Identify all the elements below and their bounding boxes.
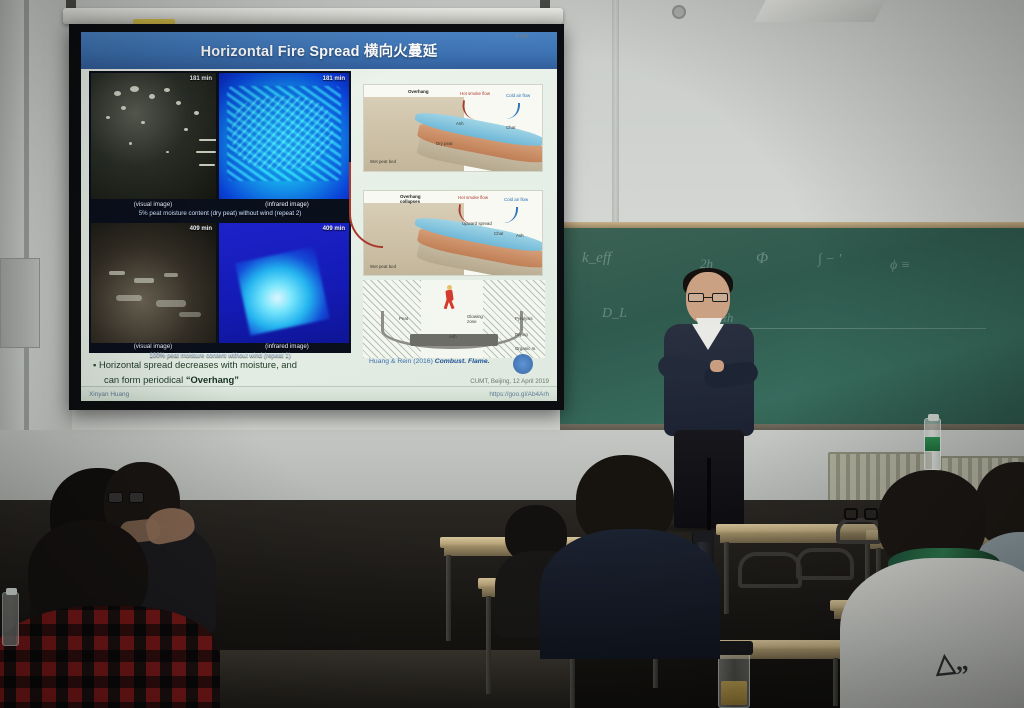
- caption-infrared-bottom: (infrared image): [239, 343, 335, 350]
- chalk-note-0: k_eff: [582, 250, 611, 267]
- label-char: Char: [494, 231, 504, 236]
- photo-visual-409min: 409 min: [91, 223, 216, 343]
- university-crest-icon: [513, 354, 533, 374]
- ceiling-light-fixture: [754, 0, 886, 22]
- stage-transition-arrow: [349, 162, 383, 248]
- slide-title-bar: Horizontal Fire Spread 横向火蔓延: [81, 32, 557, 69]
- overhang-diagram-stage1: Overhang Hot smoke flow Cold air flow As…: [363, 84, 543, 172]
- label-ash: Ash: [456, 121, 464, 126]
- audience-glasses: [108, 492, 144, 503]
- audience-member-center: [540, 455, 710, 635]
- footer-link: https://goo.gl/Ab4Arh: [489, 391, 549, 398]
- chalk-note-3: Φ: [756, 250, 768, 268]
- label-cold-air-flow: Cold air flow: [504, 197, 528, 202]
- experiment-photo-grid: 181 min 181 min 409 min: [89, 71, 351, 353]
- caption-visual-top: (visual image): [105, 201, 201, 208]
- chair-back-right: [738, 552, 802, 588]
- label-peat: Peat: [399, 316, 408, 321]
- citation-journal: Combust. Flame.: [435, 358, 490, 365]
- label-wet-peat-bed: Wet peat bed: [370, 264, 396, 269]
- label-ash: Ash: [449, 334, 457, 339]
- presenter-hand: [710, 360, 724, 372]
- photo-timestamp: 409 min: [323, 226, 345, 232]
- jar-lid: [717, 641, 753, 655]
- bullet-line-2-bold: “Overhang”: [186, 374, 239, 385]
- label-drying: Drying: [515, 332, 528, 337]
- presenter-glasses: [688, 293, 728, 302]
- label-organic-matter: Organic m.: [515, 346, 536, 351]
- cold-air-arrow: [504, 103, 520, 119]
- torso: [540, 529, 720, 659]
- audience-member-plaid-shirt: [0, 520, 220, 708]
- left-wall-recess: [0, 258, 40, 348]
- citation-authors: Huang & Rein (2016): [369, 358, 435, 365]
- label-cold-air-flow: Cold air flow: [506, 93, 530, 98]
- projection-screen-roller: [63, 8, 563, 24]
- label-overhang-collapses: Overhang collapses: [400, 194, 440, 204]
- meeting-info: CUMT, Beijing, 12 April 2019: [470, 378, 549, 385]
- jar-contents: [721, 681, 747, 705]
- bottle-cap: [6, 588, 17, 595]
- photo-infrared-181min: 181 min: [219, 73, 349, 199]
- label-hot-smoke-flow: Hot smoke flow: [460, 91, 490, 96]
- label-char: Char: [506, 125, 516, 130]
- bullet-line-1: Horizontal spread decreases with moistur…: [99, 359, 297, 370]
- water-bottle-on-radiator: [924, 418, 941, 470]
- bottle-cap: [928, 414, 939, 421]
- photo-timestamp: 181 min: [323, 76, 345, 82]
- screen-brand-label: FINE: [516, 34, 529, 40]
- slide-footer: Xinyan Huang https://goo.gl/Ab4Arh: [81, 386, 557, 401]
- slide-title-text: Horizontal Fire Spread 横向火蔓延: [201, 40, 438, 61]
- presentation-slide: Horizontal Fire Spread 横向火蔓延: [81, 32, 557, 401]
- caption-moisture-top: 5% peat moisture content (dry peat) with…: [89, 210, 351, 217]
- photo-timestamp: 181 min: [190, 76, 212, 82]
- label-overhang: Overhang: [408, 89, 429, 94]
- left-wall-edge: [24, 0, 29, 470]
- left-wall-panel: [0, 0, 72, 470]
- glass-tea-jar: [718, 645, 750, 708]
- running-figure-icon: [443, 283, 457, 309]
- cold-air-arrow: [502, 207, 518, 223]
- chalkboard: k_eff D_L 2h Φ = αh ∫ − ′ ϕ ≡: [560, 228, 1024, 430]
- caption-infrared-top: (infrared image): [239, 201, 335, 208]
- overhang-diagram-stage2: Overhang collapses Hot smoke flow Cold a…: [363, 190, 543, 276]
- hoodie-graphic-print: △„: [934, 643, 1007, 698]
- audience-member-hoodie: △„: [840, 470, 1024, 708]
- caption-visual-bottom: (visual image): [105, 343, 201, 350]
- classroom-photo-scene: k_eff D_L 2h Φ = αh ∫ − ′ ϕ ≡ Horizontal…: [0, 0, 1024, 708]
- projection-screen: Horizontal Fire Spread 横向火蔓延: [69, 24, 564, 410]
- peat-fire-schematic: Peat Ash Glowing zone Pyrolysis Drying O…: [363, 280, 545, 358]
- slide-bullet-list: ▪ Horizontal spread decreases with moist…: [93, 357, 351, 387]
- bullet-line-2-prefix: can form periodical: [104, 374, 186, 385]
- footer-author: Xinyan Huang: [89, 391, 129, 398]
- wall-mount-knob: [672, 5, 686, 19]
- slide-citation: Huang & Rein (2016) Combust. Flame.: [369, 358, 490, 365]
- infrared-hot-plume: [236, 247, 330, 337]
- label-hot-smoke-flow: Hot smoke flow: [458, 195, 488, 200]
- bottle-label: [925, 437, 940, 451]
- chalk-note-1: D_L: [602, 306, 627, 322]
- label-pyrolysis: Pyrolysis: [515, 316, 533, 321]
- hoodie-student-glasses: [844, 508, 878, 520]
- small-water-bottle: [2, 592, 19, 646]
- label-ash: Ash: [516, 233, 524, 238]
- label-glowing-zone: Glowing zone: [467, 314, 491, 324]
- label-dry-peat: Dry peat: [436, 141, 453, 146]
- photo-infrared-409min: 409 min: [219, 223, 349, 343]
- bullet-marker: ▪: [93, 359, 96, 370]
- photo-timestamp: 409 min: [190, 226, 212, 232]
- photo-visual-181min: 181 min: [91, 73, 216, 199]
- plaid-shirt-torso: [0, 606, 220, 708]
